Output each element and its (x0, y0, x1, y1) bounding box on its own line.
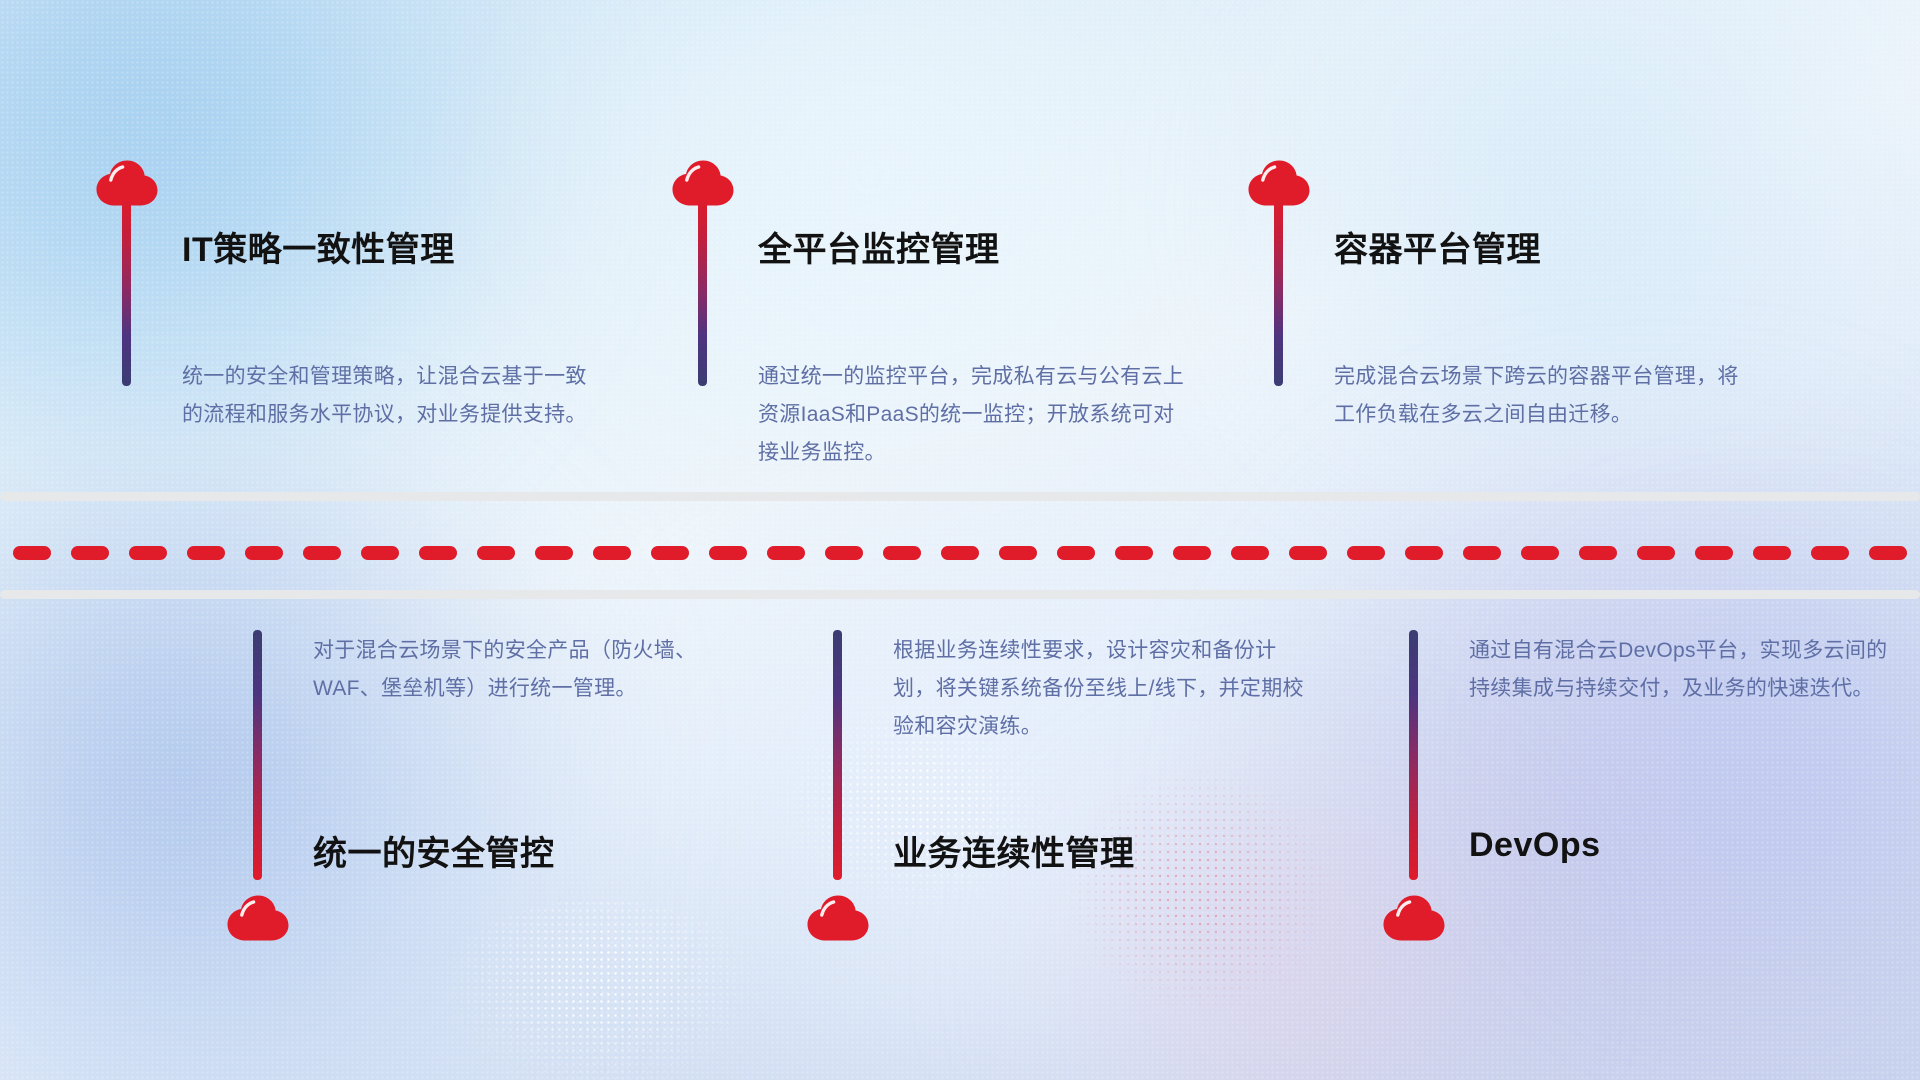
dash-segment (1289, 546, 1327, 560)
dash-segment (13, 546, 51, 560)
dash-segment (883, 546, 921, 560)
dash-segment (1753, 546, 1791, 560)
connector-stem (253, 630, 262, 880)
divider-line-lower (0, 590, 1920, 599)
dash-segment (1521, 546, 1559, 560)
dash-segment (1347, 546, 1385, 560)
dash-segment (1637, 546, 1675, 560)
dash-segment (361, 546, 399, 560)
background-dot-patch (1060, 760, 1340, 1020)
dash-segment (477, 546, 515, 560)
dash-segment (1811, 546, 1849, 560)
card-heading-container: 容器平台管理 (1334, 222, 1541, 271)
red-dashed-separator (0, 546, 1920, 560)
dash-segment (825, 546, 863, 560)
card-body-it-policy: 统一的安全和管理策略，让混合云基于一致的流程和服务水平协议，对业务提供支持。 (182, 358, 600, 434)
dash-segment (999, 546, 1037, 560)
dash-segment (1405, 546, 1443, 560)
card-heading-security: 统一的安全管控 (313, 826, 555, 875)
dash-segment (1695, 546, 1733, 560)
infographic-canvas: IT策略一致性管理 统一的安全和管理策略，让混合云基于一致的流程和服务水平协议，… (0, 0, 1920, 1080)
dash-segment (1463, 546, 1501, 560)
dash-segment (535, 546, 573, 560)
connector-stem (1274, 196, 1283, 386)
dash-segment (1231, 546, 1269, 560)
card-body-container: 完成混合云场景下跨云的容器平台管理，将工作负载在多云之间自由迁移。 (1334, 358, 1754, 434)
dash-segment (1115, 546, 1153, 560)
card-body-devops: 通过自有混合云DevOps平台，实现多云间的持续集成与持续交付，及业务的快速迭代… (1469, 632, 1889, 708)
dash-segment (187, 546, 225, 560)
cloud-icon (807, 895, 869, 941)
dash-segment (1173, 546, 1211, 560)
dash-segment (941, 546, 979, 560)
dash-segment (71, 546, 109, 560)
dash-segment (651, 546, 689, 560)
card-body-monitoring: 通过统一的监控平台，完成私有云与公有云上资源IaaS和PaaS的统一监控；开放系… (758, 358, 1190, 472)
cloud-icon (1383, 895, 1445, 941)
dash-segment (767, 546, 805, 560)
dash-segment (419, 546, 457, 560)
cloud-icon (227, 895, 289, 941)
card-body-security: 对于混合云场景下的安全产品（防火墙、WAF、堡垒机等）进行统一管理。 (313, 632, 733, 708)
card-heading-devops: DevOps (1469, 826, 1601, 865)
dash-segment (709, 546, 747, 560)
dash-segment (1057, 546, 1095, 560)
connector-stem (698, 196, 707, 386)
dash-segment (593, 546, 631, 560)
dash-segment (245, 546, 283, 560)
connector-stem (1409, 630, 1418, 880)
dash-segment (1869, 546, 1907, 560)
card-heading-monitoring: 全平台监控管理 (758, 222, 1000, 271)
dash-segment (129, 546, 167, 560)
card-body-continuity: 根据业务连续性要求，设计容灾和备份计划，将关键系统备份至线上/线下，并定期校验和… (893, 632, 1315, 746)
dash-segment (1579, 546, 1617, 560)
connector-stem (833, 630, 842, 880)
connector-stem (122, 196, 131, 386)
card-heading-continuity: 业务连续性管理 (893, 826, 1135, 875)
card-heading-it-policy: IT策略一致性管理 (182, 222, 455, 271)
dash-segment (303, 546, 341, 560)
divider-line-upper (0, 492, 1920, 501)
